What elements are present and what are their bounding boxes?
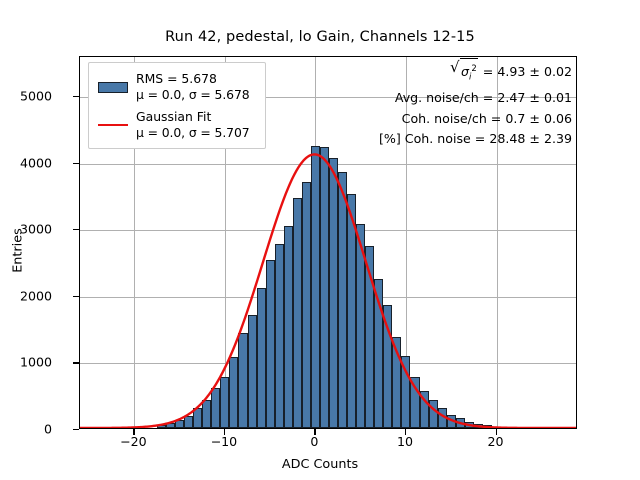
y-axis-tick-mark (73, 362, 79, 363)
x-axis-tick-label: 0 (310, 434, 318, 449)
x-axis-tick-label: −10 (211, 434, 238, 449)
y-axis-tick-label: 5000 (20, 88, 52, 103)
y-axis-label: Entries (11, 171, 26, 331)
stat-coh-noise-pct: [%] Coh. noise = 28.48 ± 2.39 (300, 129, 572, 150)
stat-coh-noise: Coh. noise/ch = 0.7 ± 0.06 (300, 109, 572, 130)
legend-item-rms[interactable]: RMS = 5.678 μ = 0.0, σ = 5.678 (94, 68, 259, 106)
stat-avg-noise: Avg. noise/ch = 2.47 ± 0.01 (300, 88, 572, 109)
y-axis-tick-label: 0 (44, 422, 52, 437)
y-axis-tick-mark (73, 96, 79, 97)
sigma-symbol: σ (461, 64, 469, 79)
y-axis-tick-mark (73, 229, 79, 230)
y-axis-tick-mark (73, 429, 79, 430)
legend-item-gaussian-fit[interactable]: Gaussian Fit μ = 0.0, σ = 5.707 (94, 106, 259, 144)
stat-sigma-value: = 4.93 ± 0.02 (483, 64, 572, 79)
chart-legend[interactable]: RMS = 5.678 μ = 0.0, σ = 5.678 Gaussian … (88, 62, 266, 149)
y-axis-tick-mark (73, 296, 79, 297)
legend-item-rms-line2: μ = 0.0, σ = 5.678 (136, 87, 250, 103)
x-axis-tick-label: 20 (487, 434, 503, 449)
sqrt-radical-icon: σi2 (451, 58, 479, 88)
page-title: Run 42, pedestal, lo Gain, Channels 12-1… (0, 29, 640, 45)
x-axis-tick-mark (405, 429, 406, 435)
legend-swatch-histogram (94, 82, 132, 93)
figure-canvas: Run 42, pedestal, lo Gain, Channels 12-1… (0, 0, 640, 480)
sigma-superscript: 2 (471, 64, 476, 74)
x-axis-tick-label: 10 (397, 434, 413, 449)
legend-item-fit-line1: Gaussian Fit (136, 109, 250, 125)
x-axis-label: ADC Counts (0, 457, 640, 472)
y-axis-tick-mark (73, 163, 79, 164)
x-axis-tick-label: −20 (120, 434, 147, 449)
x-axis-tick-mark (133, 429, 134, 435)
x-axis-tick-mark (314, 429, 315, 435)
legend-item-rms-line1: RMS = 5.678 (136, 71, 250, 87)
x-axis-tick-mark (224, 429, 225, 435)
legend-item-fit-line2: μ = 0.0, σ = 5.707 (136, 125, 250, 141)
sigma-subscript: i (469, 73, 471, 83)
y-axis-tick-label: 4000 (20, 155, 52, 170)
legend-swatch-fit-line (94, 124, 132, 126)
x-axis-tick-mark (496, 429, 497, 435)
statistics-annotation: σi2 = 4.93 ± 0.02 Avg. noise/ch = 2.47 ±… (300, 58, 572, 150)
y-axis-tick-label: 1000 (20, 355, 52, 370)
stat-sigma-sqrt: σi2 = 4.93 ± 0.02 (300, 58, 572, 88)
